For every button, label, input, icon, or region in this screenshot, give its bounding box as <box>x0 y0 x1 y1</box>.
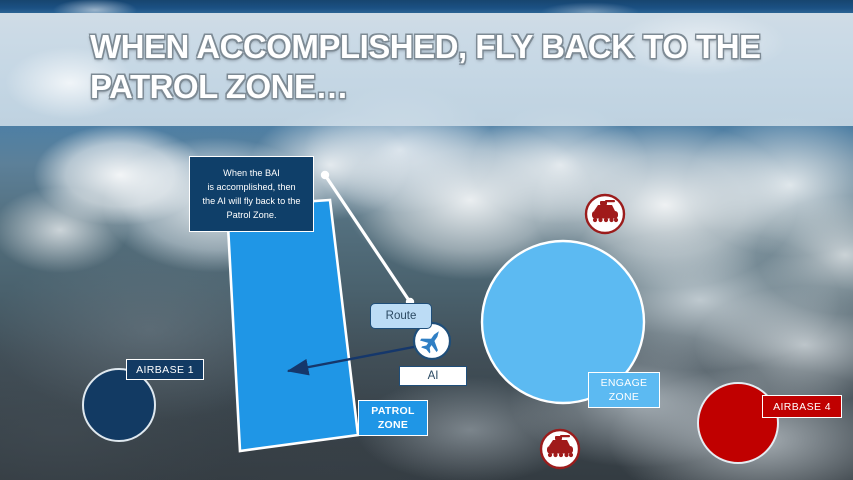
ground-target-marker-1[interactable] <box>586 195 624 233</box>
airbase-1-label[interactable]: AIRBASE 1 <box>126 359 204 380</box>
ground-target-marker-2[interactable] <box>541 430 579 468</box>
airbase-4-label[interactable]: AIRBASE 4 <box>762 395 842 418</box>
engage-zone-label[interactable]: ENGAGE ZONE <box>588 372 660 408</box>
ai-label[interactable]: AI <box>399 366 467 386</box>
slide-canvas: WHEN ACCOMPLISHED, FLY BACK TO THE PATRO… <box>0 0 853 480</box>
bai-callout-box[interactable]: When the BAI is accomplished, then the A… <box>189 156 314 232</box>
route-label[interactable]: Route <box>370 303 432 329</box>
patrol-zone-shape[interactable] <box>227 200 358 451</box>
patrol-zone-label[interactable]: PATROL ZONE <box>358 400 428 436</box>
